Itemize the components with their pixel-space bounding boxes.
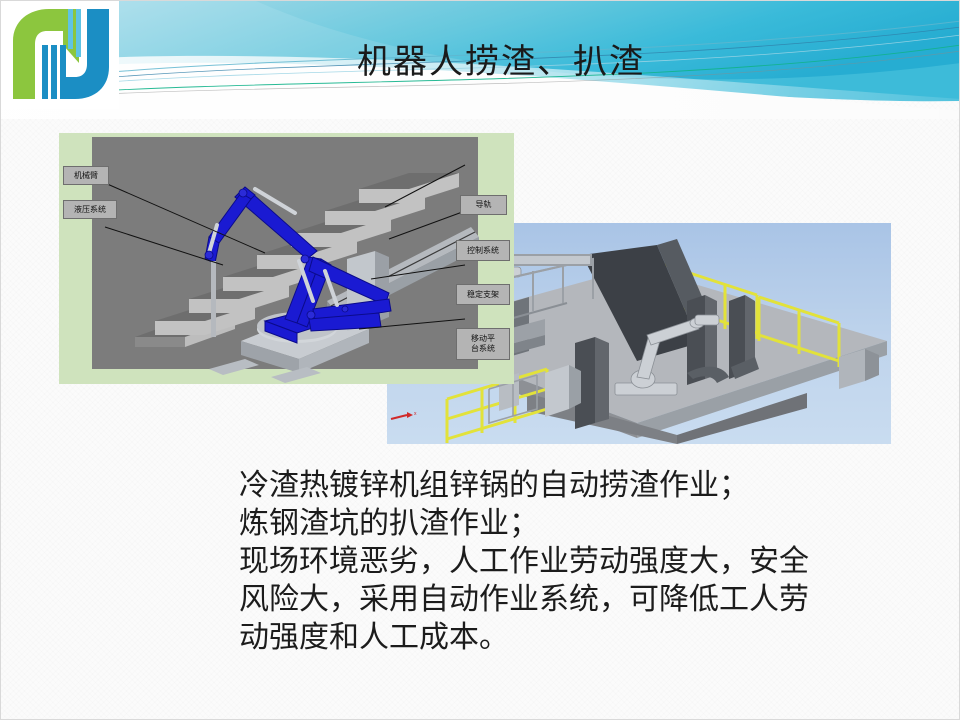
callout-stabilizer-support: 稳定支架 (456, 284, 510, 305)
callout-control-system: 控制系统 (456, 240, 510, 261)
logo-lightblue-bar-1 (68, 9, 73, 49)
callout-hydraulic-system: 液压系统 (63, 200, 117, 219)
page-title: 机器人捞渣、扒渣 (151, 41, 851, 85)
callout-arm: 机械臂 (63, 166, 109, 185)
body-line-2: 炼钢渣坑的扒渣作业； (239, 505, 899, 543)
logo-blue-bar-1 (42, 45, 48, 99)
company-logo[interactable] (1, 1, 119, 109)
slag-skimming-diagram-image (59, 133, 514, 384)
logo-lightblue-bar-2 (76, 9, 81, 57)
presentation-slide: 机器人捞渣、扒渣 (0, 0, 960, 720)
callout-mobile-platform-line1: 移动平 (471, 334, 495, 344)
callout-guide-rail: 导轨 (460, 195, 507, 215)
body-line-5: 动强度和人工成本。 (239, 619, 899, 657)
callout-mobile-platform-system: 移动平 台系统 (456, 328, 510, 360)
callout-mobile-platform-line2: 台系统 (471, 344, 495, 354)
body-line-3: 现场环境恶劣，人工作业劳动强度大，安全 (239, 543, 899, 581)
body-line-1: 冷渣热镀锌机组锌锅的自动捞渣作业； (239, 467, 899, 505)
body-line-4: 风险大，采用自动作业系统，可降低工人劳 (239, 581, 899, 619)
diagram-vertical-pole (211, 261, 216, 337)
body-text-block: 冷渣热镀锌机组锌锅的自动捞渣作业； 炼钢渣坑的扒渣作业； 现场环境恶劣，人工作业… (239, 467, 899, 657)
logo-blue-bar-3 (60, 45, 66, 99)
logo-blue-bar-2 (51, 45, 57, 99)
